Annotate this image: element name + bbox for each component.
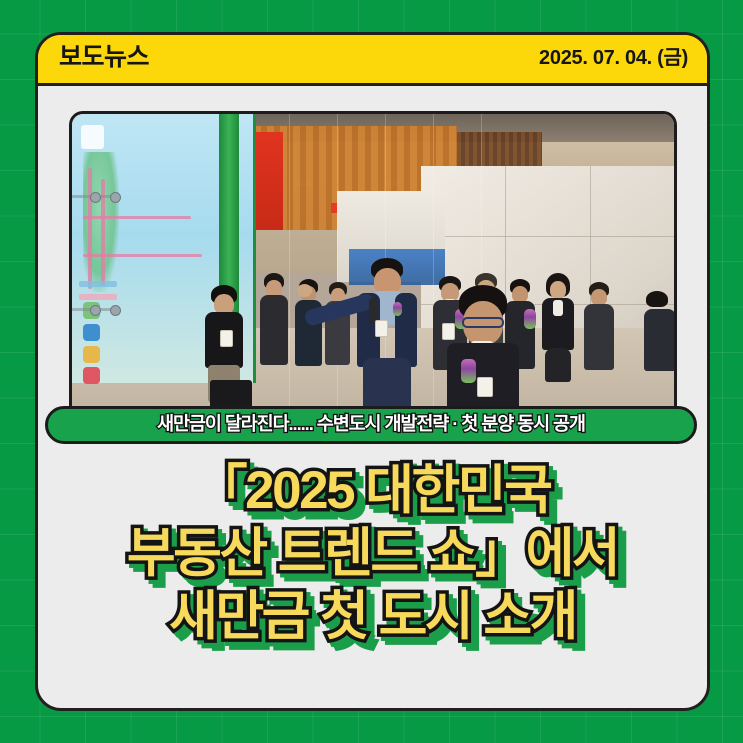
person-attendee <box>542 273 574 420</box>
board-logo <box>81 125 104 149</box>
publish-date: 2025. 07. 04. (금) <box>539 48 688 70</box>
headline-line-3: 새만금 첫 도시 소개 <box>38 585 707 648</box>
eyeglasses <box>462 317 504 328</box>
person-foreground <box>445 285 521 420</box>
booth-seam <box>421 236 674 237</box>
person-partial <box>644 291 674 420</box>
headline-block: 「2025 대한민국 부동산 트렌드 쇼」에서 새만금 첫 도시 소개 <box>38 459 707 648</box>
person-attendee <box>584 282 614 420</box>
board-icon <box>83 324 100 341</box>
board-icon <box>83 367 100 384</box>
news-photo-frame <box>69 111 677 423</box>
photo-caption-pill: 새만금이 달라진다...... 수변도시 개발전략 · 첫 분양 동시 공개 <box>45 406 697 444</box>
headline-line-2: 부동산 트렌드 쇼」에서 <box>38 522 707 585</box>
photo-caption-text: 새만금이 달라진다...... 수변도시 개발전략 · 첫 분양 동시 공개 <box>157 415 585 436</box>
person-crowd <box>295 279 323 420</box>
person-crowd <box>259 273 289 420</box>
headline-line-1: 「2025 대한민국 <box>38 459 707 522</box>
news-card-graphic: 보도뉴스 2025. 07. 04. (금) <box>0 0 743 743</box>
board-icon <box>83 346 100 363</box>
exhibition-hall-photo <box>72 114 674 420</box>
brand-label: 보도뉴스 <box>59 45 149 72</box>
person-speaker <box>355 258 417 420</box>
news-card: 보도뉴스 2025. 07. 04. (금) <box>35 32 710 711</box>
card-header: 보도뉴스 2025. 07. 04. (금) <box>37 34 708 86</box>
